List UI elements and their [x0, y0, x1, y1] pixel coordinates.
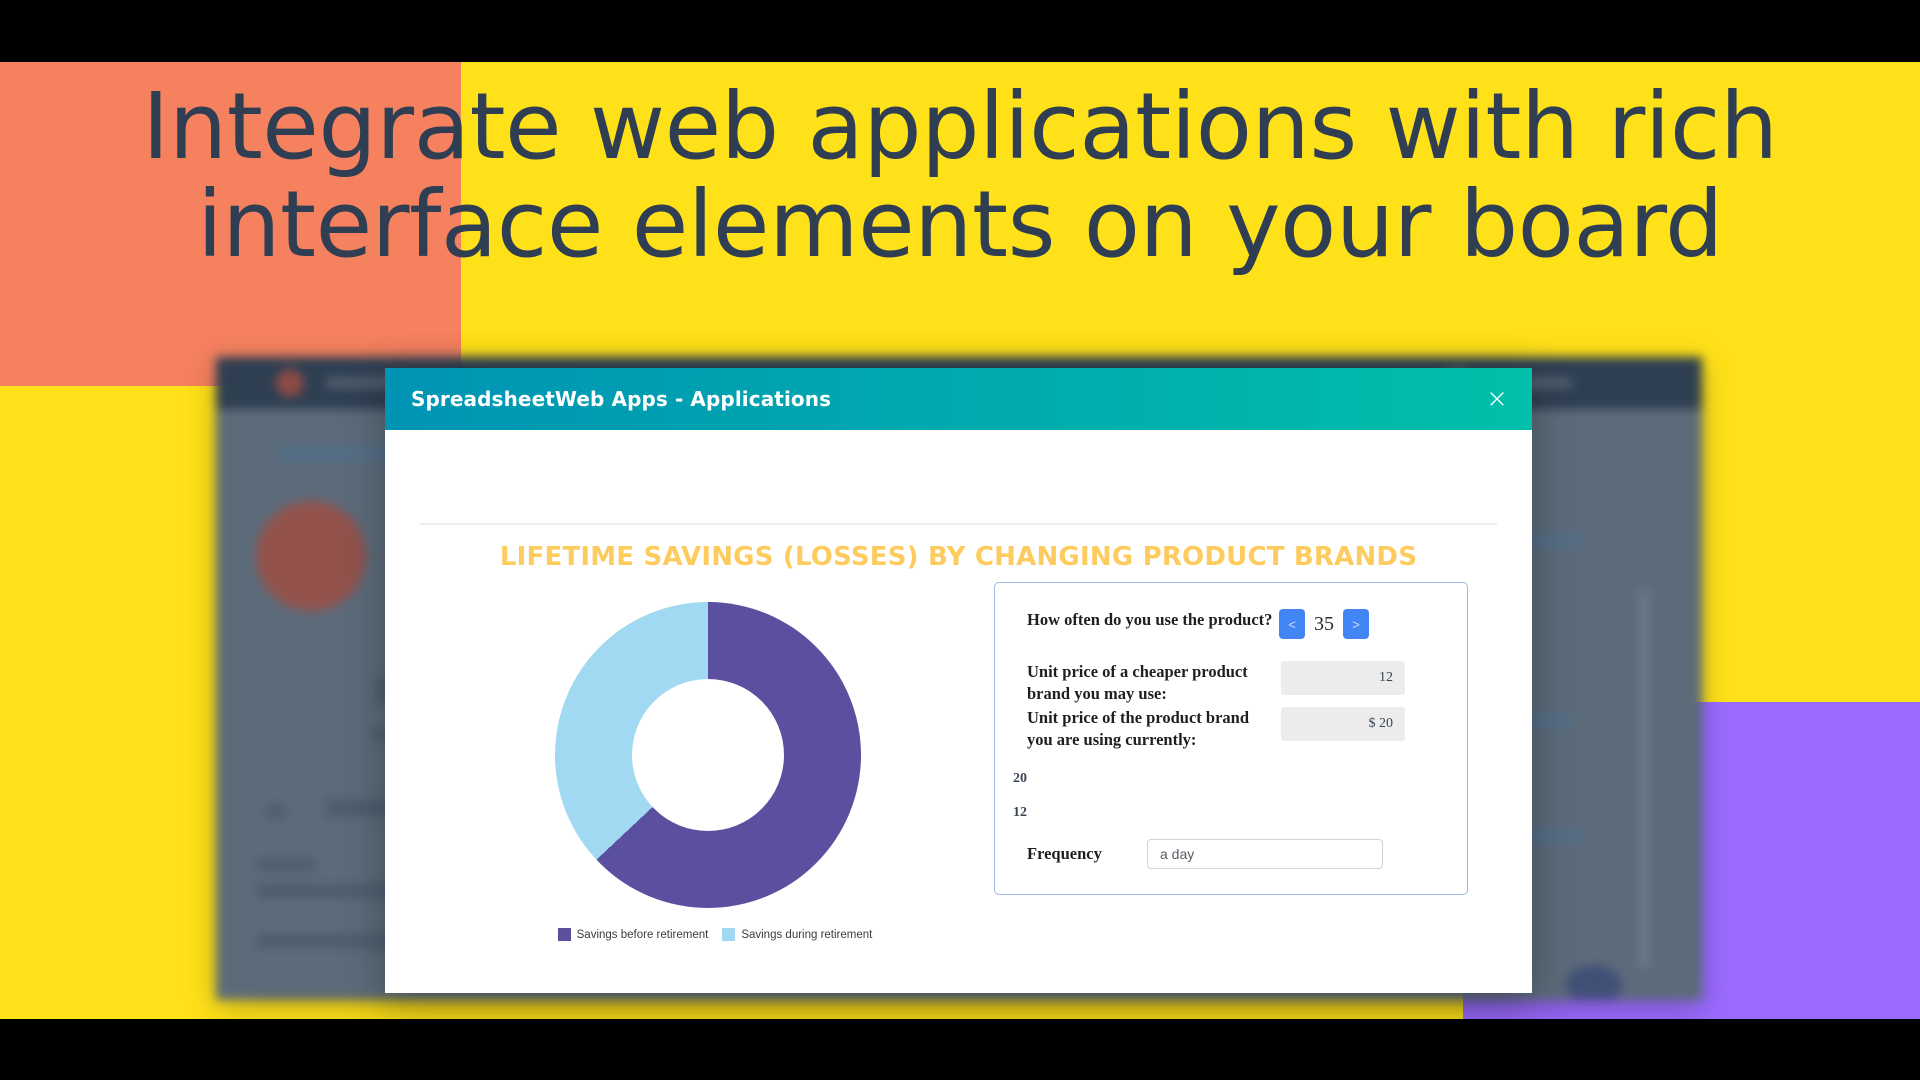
legend-item: Savings before retirement [558, 928, 709, 941]
modal-header: SpreadsheetWeb Apps - Applications × [385, 368, 1532, 430]
legend-label: Savings before retirement [577, 929, 709, 941]
divider [420, 523, 1497, 525]
chart-legend: Savings before retirement Savings during… [445, 928, 985, 941]
modal-dialog: SpreadsheetWeb Apps - Applications × LIF… [385, 368, 1532, 993]
page-title: Integrate web applications with rich int… [0, 78, 1920, 273]
modal-title: SpreadsheetWeb Apps - Applications [411, 387, 831, 411]
field-label-cheaper-brand-price: Unit price of a cheaper product brand yo… [1027, 661, 1267, 705]
form-row-cheaper-brand-price: Unit price of a cheaper product brand yo… [1027, 661, 1437, 705]
app-chat-bubble [1566, 965, 1622, 1000]
legend-item: Savings during retirement [722, 928, 872, 941]
field-label-usage-frequency: How often do you use the product? [1027, 609, 1279, 631]
donut-chart [555, 602, 861, 908]
chart-title: LIFETIME SAVINGS (LOSSES) BY CHANGING PR… [385, 542, 1532, 572]
donut-hole [632, 679, 784, 831]
letterbox-bar-top [0, 0, 1920, 62]
cheaper-brand-price-field[interactable]: 12 [1281, 661, 1405, 695]
legend-label: Savings during retirement [741, 929, 872, 941]
app-contact-avatar [256, 501, 366, 611]
form-row-frequency-usage: How often do you use the product? < 35 > [1027, 609, 1437, 639]
chart-area: Savings before retirement Savings during… [445, 590, 985, 990]
legend-swatch-during-retirement [722, 928, 735, 941]
headline-line-2: interface elements on your board [0, 176, 1920, 274]
input-form-panel: How often do you use the product? < 35 >… [994, 582, 1468, 895]
headline-line-1: Integrate web applications with rich [0, 78, 1920, 176]
current-brand-price-field[interactable]: $ 20 [1281, 707, 1405, 741]
app-section-toggle [266, 804, 286, 818]
form-row-current-brand-price: Unit price of the product brand you are … [1027, 707, 1437, 751]
slide-canvas: Integrate web applications with rich int… [0, 0, 1920, 1080]
stepper-value: 35 [1311, 613, 1337, 636]
app-logo-icon [276, 369, 304, 397]
frequency-select[interactable]: a day [1147, 839, 1383, 869]
field-label-frequency: Frequency [1027, 843, 1147, 865]
form-row-frequency: Frequency a day [1027, 839, 1447, 869]
app-field-label [256, 997, 411, 1000]
quantity-stepper: < 35 > [1279, 609, 1369, 639]
app-field-label [256, 859, 316, 871]
field-label-current-brand-price: Unit price of the product brand you are … [1027, 707, 1267, 751]
stepper-decrement-button[interactable]: < [1279, 609, 1305, 639]
legend-swatch-before-retirement [558, 928, 571, 941]
close-icon[interactable]: × [1480, 382, 1514, 416]
app-field-label [256, 934, 406, 948]
app-scrollbar [1641, 589, 1647, 969]
letterbox-bar-bottom [0, 1019, 1920, 1080]
stepper-increment-button[interactable]: > [1343, 609, 1369, 639]
computed-value-cheaper-price: 12 [1013, 805, 1027, 821]
computed-value-current-price: 20 [1013, 771, 1027, 787]
modal-body: LIFETIME SAVINGS (LOSSES) BY CHANGING PR… [385, 430, 1532, 993]
